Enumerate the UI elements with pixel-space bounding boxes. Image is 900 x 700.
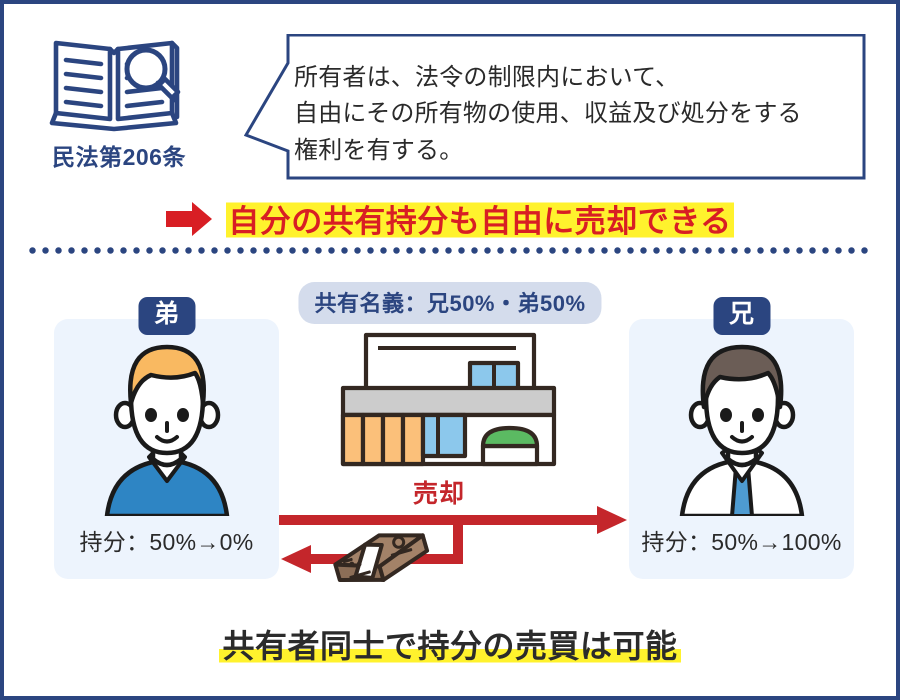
person-avatar-younger-brother (87, 341, 247, 516)
headline-text: 自分の共有持分も自由に売却できる (226, 196, 733, 241)
open-book-with-magnifier-icon (34, 26, 204, 134)
share-label-younger-brother: 持分：50%→0% (54, 523, 279, 557)
sale-label: 売却 (413, 474, 465, 510)
building-illustration (340, 332, 560, 467)
ownership-pill: 共有名義：兄50%・弟50% (298, 282, 601, 324)
money-bundle-icon (325, 526, 435, 588)
speech-bubble-text: 所有者は、法令の制限内において、 自由にその所有物の使用、収益及び処分をする 権… (294, 60, 848, 169)
footer-text: 共有者同士で持分の売買は可能 (4, 621, 896, 667)
person-badge-elder-brother: 兄 (713, 297, 770, 335)
headline-row: 自分の共有持分も自由に売却できる (4, 196, 896, 241)
person-card-elder-brother: 兄 持分：50%→100% (629, 319, 854, 579)
infographic-page: 民法第206条 所有者は、法令の制限内において、 自由にその所有物の使用、収益及… (0, 0, 900, 700)
person-card-younger-brother: 弟 持分：50%→0% (54, 319, 279, 579)
speech-bubble: 所有者は、法令の制限内において、 自由にその所有物の使用、収益及び処分をする 権… (244, 34, 866, 180)
share-label-elder-brother: 持分：50%→100% (629, 523, 854, 557)
dotted-divider (26, 247, 874, 254)
law-reference-label: 民法第206条 (34, 138, 204, 172)
person-avatar-elder-brother (662, 341, 822, 516)
right-arrow-icon (166, 202, 212, 236)
law-reference-block: 民法第206条 (34, 26, 204, 172)
person-badge-younger-brother: 弟 (138, 297, 195, 335)
footer-text-highlight: 共有者同士で持分の売買は可能 (219, 628, 680, 664)
transaction-arrows: 売却 (279, 474, 629, 589)
